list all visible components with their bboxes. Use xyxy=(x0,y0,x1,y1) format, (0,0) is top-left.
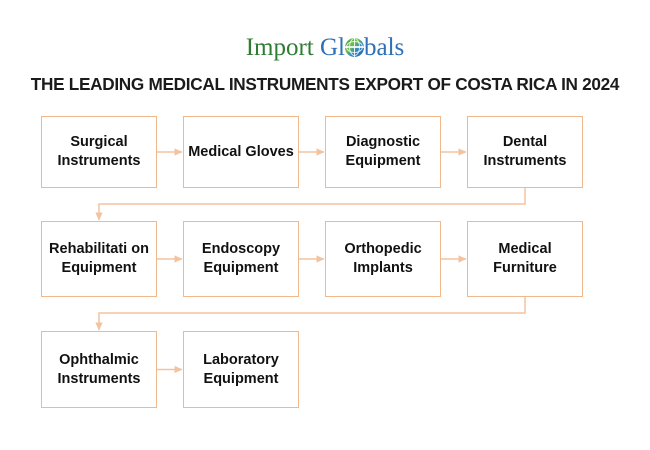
flow-node-label: Diagnostic Equipment xyxy=(330,133,436,170)
flow-node[interactable]: Rehabilitati on Equipment xyxy=(41,221,157,297)
flow-node-label: Medical Furniture xyxy=(472,240,578,277)
flow-node[interactable]: Medical Furniture xyxy=(467,221,583,297)
flow-node-label: Dental Instruments xyxy=(472,133,578,170)
flow-node[interactable]: Diagnostic Equipment xyxy=(325,116,441,188)
connector-arrow xyxy=(99,297,525,330)
flow-node[interactable]: Laboratory Equipment xyxy=(183,331,299,408)
flow-node[interactable]: Ophthalmic Instruments xyxy=(41,331,157,408)
flow-node-label: Laboratory Equipment xyxy=(188,351,294,388)
flow-node-label: Surgical Instruments xyxy=(46,133,152,170)
flow-node[interactable]: Orthopedic Implants xyxy=(325,221,441,297)
flow-node-label: Medical Gloves xyxy=(188,143,294,162)
flowchart: Surgical InstrumentsMedical GlovesDiagno… xyxy=(0,0,650,450)
flow-node-label: Orthopedic Implants xyxy=(330,240,436,277)
flow-node[interactable]: Medical Gloves xyxy=(183,116,299,188)
flow-node[interactable]: Dental Instruments xyxy=(467,116,583,188)
connector-arrow xyxy=(99,188,525,220)
flow-node-label: Endoscopy Equipment xyxy=(188,240,294,277)
flow-node[interactable]: Surgical Instruments xyxy=(41,116,157,188)
flow-node-label: Ophthalmic Instruments xyxy=(46,351,152,388)
flow-node[interactable]: Endoscopy Equipment xyxy=(183,221,299,297)
flow-node-label: Rehabilitati on Equipment xyxy=(46,240,152,277)
